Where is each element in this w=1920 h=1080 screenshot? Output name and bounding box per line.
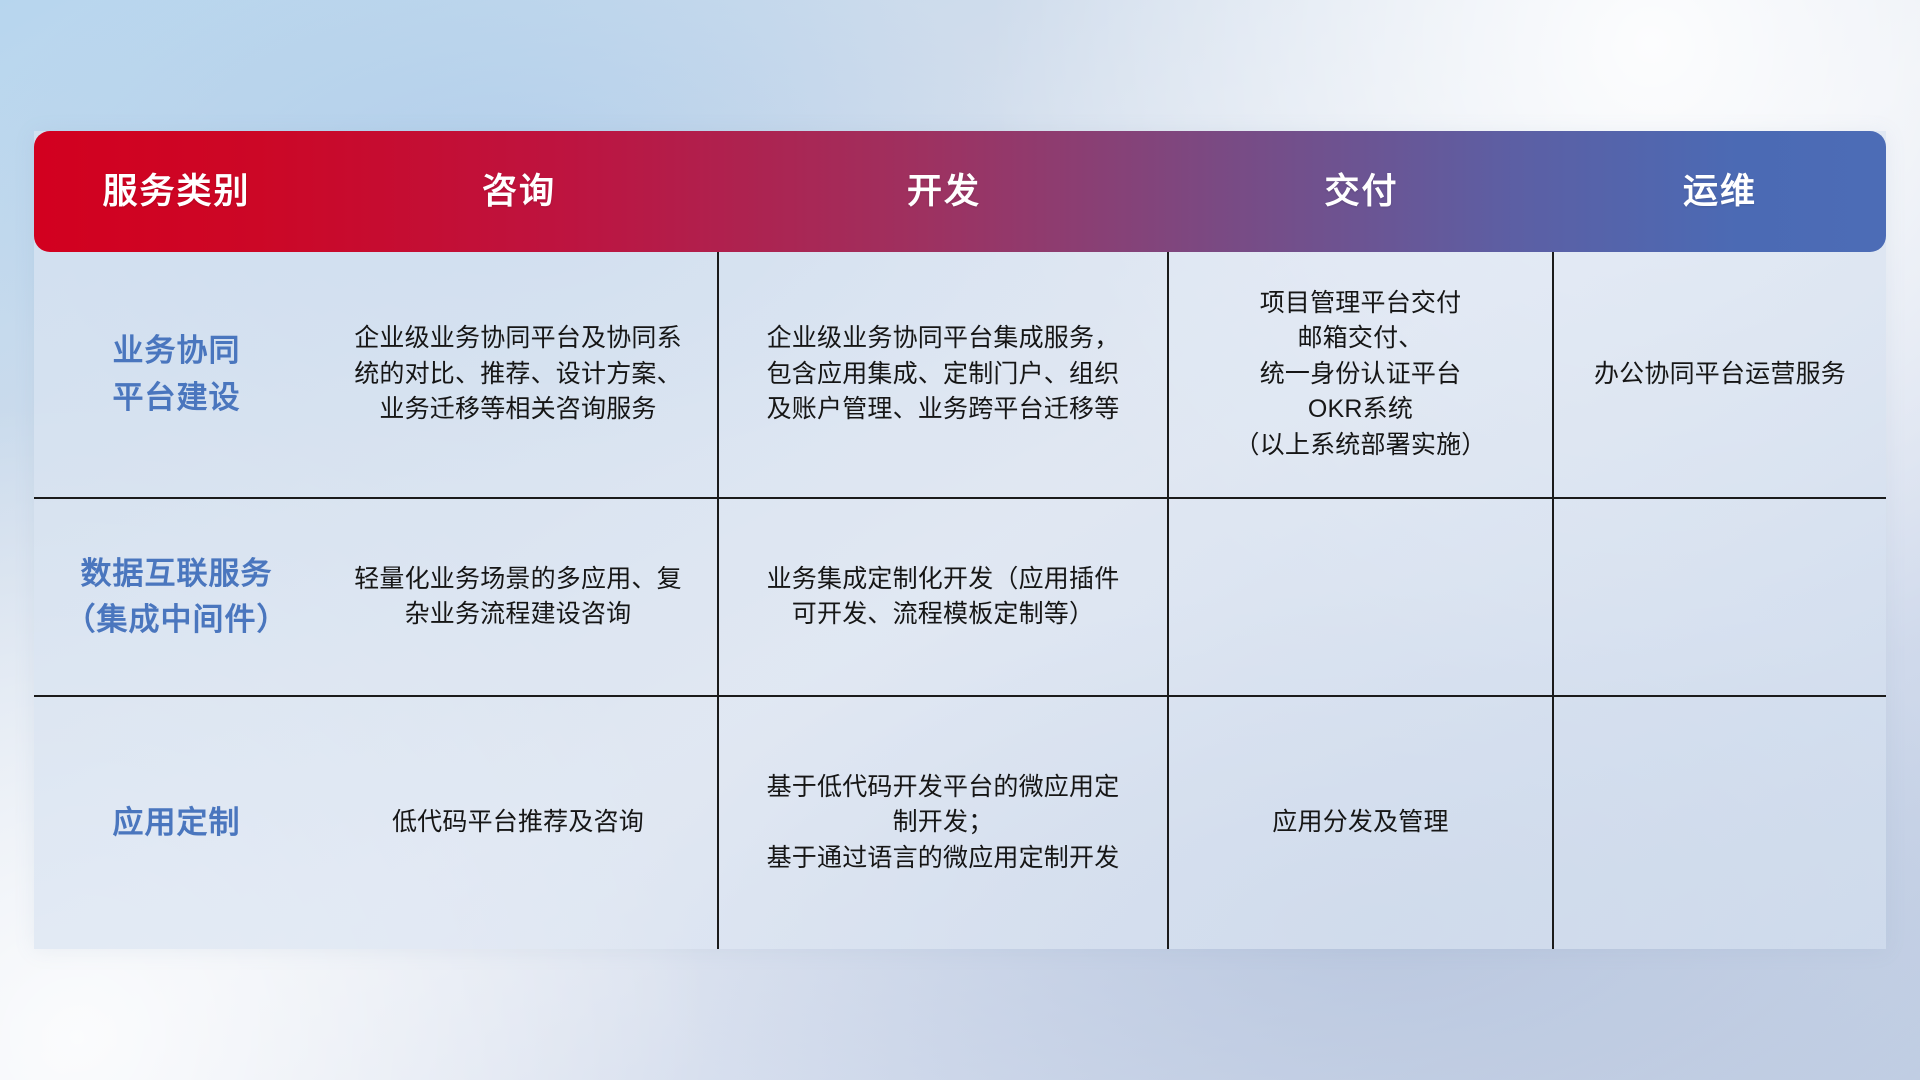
row-label: 数据互联服务 （集成中间件） xyxy=(65,551,289,644)
row-label-cell: 业务协同 平台建设 xyxy=(34,252,319,497)
cell-text: 基于低代码开发平台的微应用定 制开发； 基于通过语言的微应用定制开发 xyxy=(767,770,1120,877)
table-body: 业务协同 平台建设 企业级业务协同平台及协同系 统的对比、推荐、设计方案、 业务… xyxy=(34,252,1886,949)
cell-text: 业务集成定制化开发（应用插件 可开发、流程模板定制等） xyxy=(767,562,1120,633)
cell-consulting: 企业级业务协同平台及协同系 统的对比、推荐、设计方案、 业务迁移等相关咨询服务 xyxy=(319,252,719,497)
header-cell-consulting: 咨询 xyxy=(319,174,719,209)
cell-text: 企业级业务协同平台及协同系 统的对比、推荐、设计方案、 业务迁移等相关咨询服务 xyxy=(354,321,682,428)
cell-text: 企业级业务协同平台集成服务， 包含应用集成、定制门户、组织 及账户管理、业务跨平… xyxy=(767,321,1120,428)
cell-development: 基于低代码开发平台的微应用定 制开发； 基于通过语言的微应用定制开发 xyxy=(719,697,1169,949)
header-cell-development: 开发 xyxy=(719,174,1169,209)
cell-consulting: 轻量化业务场景的多应用、复 杂业务流程建设咨询 xyxy=(319,499,719,695)
table-row: 应用定制 低代码平台推荐及咨询 基于低代码开发平台的微应用定 制开发； 基于通过… xyxy=(34,695,1886,949)
row-label: 业务协同 平台建设 xyxy=(113,328,241,421)
cell-text: 轻量化业务场景的多应用、复 杂业务流程建设咨询 xyxy=(354,562,682,633)
header-cell-service-category: 服务类别 xyxy=(34,174,319,209)
table-header-row: 服务类别 咨询 开发 交付 运维 xyxy=(34,131,1886,252)
header-cell-delivery: 交付 xyxy=(1169,174,1554,209)
cell-text: 办公协同平台运营服务 xyxy=(1594,357,1846,393)
cell-operations xyxy=(1554,697,1886,949)
cell-text: 低代码平台推荐及咨询 xyxy=(392,805,644,841)
cell-consulting: 低代码平台推荐及咨询 xyxy=(319,697,719,949)
header-cell-operations: 运维 xyxy=(1554,174,1886,209)
table-row: 数据互联服务 （集成中间件） 轻量化业务场景的多应用、复 杂业务流程建设咨询 业… xyxy=(34,497,1886,695)
cell-delivery: 应用分发及管理 xyxy=(1169,697,1554,949)
table-row: 业务协同 平台建设 企业级业务协同平台及协同系 统的对比、推荐、设计方案、 业务… xyxy=(34,252,1886,497)
row-label-cell: 应用定制 xyxy=(34,697,319,949)
cell-operations: 办公协同平台运营服务 xyxy=(1554,252,1886,497)
cell-operations xyxy=(1554,499,1886,695)
cell-delivery: 项目管理平台交付 邮箱交付、 统一身份认证平台 OKR系统 （以上系统部署实施） xyxy=(1169,252,1554,497)
row-label-cell: 数据互联服务 （集成中间件） xyxy=(34,499,319,695)
cell-development: 业务集成定制化开发（应用插件 可开发、流程模板定制等） xyxy=(719,499,1169,695)
cell-delivery xyxy=(1169,499,1554,695)
cell-development: 企业级业务协同平台集成服务， 包含应用集成、定制门户、组织 及账户管理、业务跨平… xyxy=(719,252,1169,497)
cell-text: 应用分发及管理 xyxy=(1272,805,1448,841)
cell-text: 项目管理平台交付 邮箱交付、 统一身份认证平台 OKR系统 （以上系统部署实施） xyxy=(1234,286,1486,464)
row-label: 应用定制 xyxy=(113,800,241,847)
